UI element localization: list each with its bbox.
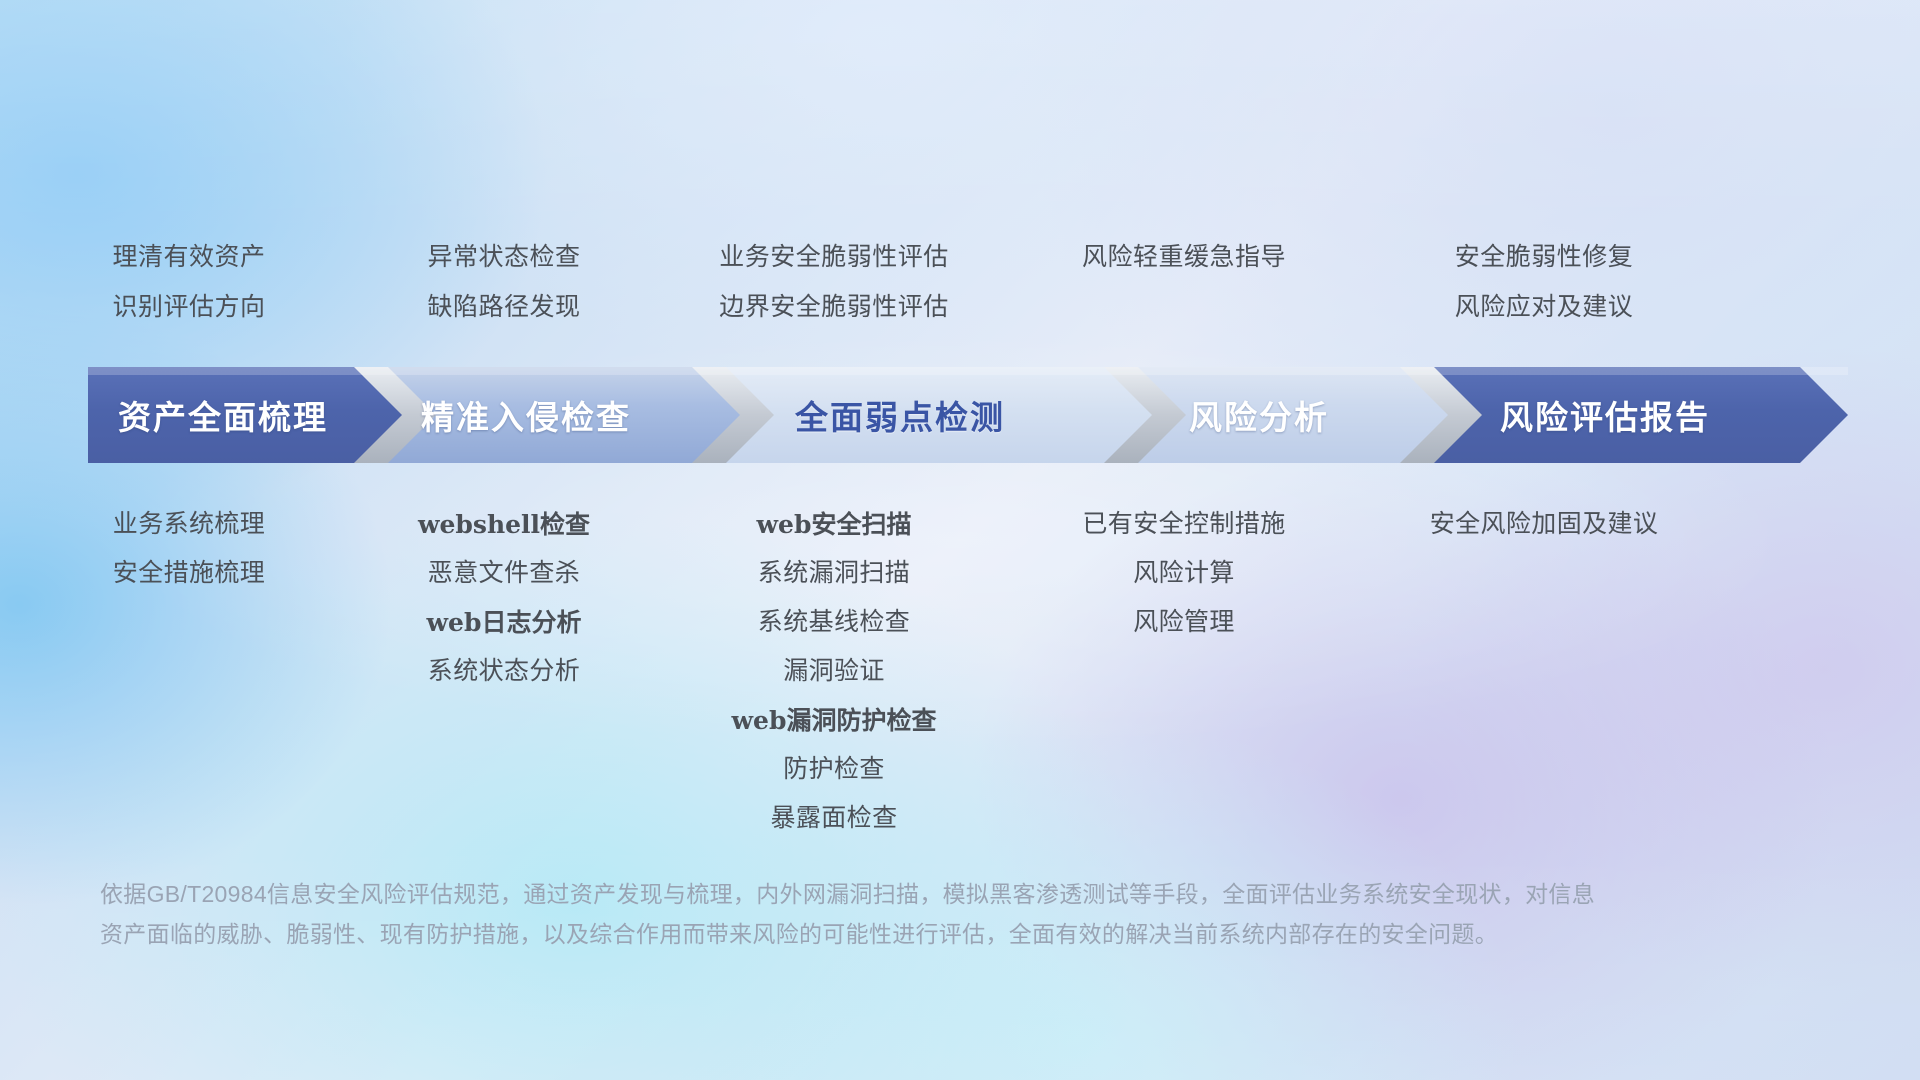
stage-title-text: 精准入侵检查 — [421, 391, 631, 439]
list-item: 业务系统梳理 — [24, 500, 354, 549]
list-item: 防护检查 — [654, 745, 1014, 794]
list-item: 系统漏洞扫描 — [654, 549, 1014, 598]
top-label-item: 业务安全脆弱性评估 — [654, 232, 1014, 282]
stage-title-text: 风险评估报告 — [1500, 391, 1710, 439]
list-item: 系统基线检查 — [654, 598, 1014, 647]
top-label-item: 风险应对及建议 — [1354, 282, 1734, 332]
list-item: webshell检查 — [354, 500, 654, 549]
stage-title-asset-inventory[interactable]: 资产全面梳理 — [88, 367, 358, 463]
stage-title-weakness-detection[interactable]: 全面弱点检测 — [730, 367, 1070, 463]
top-labels-weakness-detection: 业务安全脆弱性评估 边界安全脆弱性评估 — [654, 232, 1014, 352]
list-item: web安全扫描 — [654, 500, 1014, 549]
top-label-item: 异常状态检查 — [354, 232, 654, 282]
top-label-item: 缺陷路径发现 — [354, 282, 654, 332]
flow-diagram: 理清有效资产 识别评估方向 异常状态检查 缺陷路径发现 业务安全脆弱性评估 边界… — [0, 0, 1920, 1080]
top-labels-risk-analysis: 风险轻重缓急指导 — [1014, 232, 1354, 352]
top-label-item: 识别评估方向 — [24, 282, 354, 332]
list-item: 安全风险加固及建议 — [1354, 500, 1734, 549]
list-item: web日志分析 — [354, 598, 654, 647]
footer-line-1: 依据GB/T20984信息安全风险评估规范，通过资产发现与梳理，内外网漏洞扫描，… — [100, 874, 1800, 914]
bottom-list-weakness-detection: web安全扫描 系统漏洞扫描 系统基线检查 漏洞验证 web漏洞防护检查 防护检… — [654, 500, 1014, 843]
top-labels-risk-report: 安全脆弱性修复 风险应对及建议 — [1354, 232, 1734, 352]
list-item: 安全措施梳理 — [24, 549, 354, 598]
list-item: 恶意文件查杀 — [354, 549, 654, 598]
top-label-item: 安全脆弱性修复 — [1354, 232, 1734, 282]
bottom-lists-band: 业务系统梳理 安全措施梳理 webshell检查 恶意文件查杀 web日志分析 … — [0, 500, 1920, 843]
top-label-item: 理清有效资产 — [24, 232, 354, 282]
stage-title-text: 风险分析 — [1189, 391, 1329, 439]
top-labels-band: 理清有效资产 识别评估方向 异常状态检查 缺陷路径发现 业务安全脆弱性评估 边界… — [0, 232, 1920, 352]
footer-description: 依据GB/T20984信息安全风险评估规范，通过资产发现与梳理，内外网漏洞扫描，… — [100, 874, 1800, 954]
list-item: 漏洞验证 — [654, 647, 1014, 696]
bottom-list-intrusion-check: webshell检查 恶意文件查杀 web日志分析 系统状态分析 — [354, 500, 654, 843]
bottom-list-risk-report: 安全风险加固及建议 — [1354, 500, 1734, 843]
top-label-item: 风险轻重缓急指导 — [1014, 232, 1354, 282]
list-item: 风险管理 — [1014, 598, 1354, 647]
list-item: 风险计算 — [1014, 549, 1354, 598]
top-labels-asset-inventory: 理清有效资产 识别评估方向 — [24, 232, 354, 352]
bottom-list-risk-analysis: 已有安全控制措施 风险计算 风险管理 — [1014, 500, 1354, 843]
list-item: 已有安全控制措施 — [1014, 500, 1354, 549]
stage-title-text: 全面弱点检测 — [795, 391, 1005, 439]
top-labels-intrusion-check: 异常状态检查 缺陷路径发现 — [354, 232, 654, 352]
stage-title-risk-report[interactable]: 风险评估报告 — [1440, 367, 1770, 463]
top-label-item: 边界安全脆弱性评估 — [654, 282, 1014, 332]
list-item: web漏洞防护检查 — [654, 696, 1014, 745]
list-item: 暴露面检查 — [654, 794, 1014, 843]
stage-title-intrusion-check[interactable]: 精准入侵检查 — [392, 367, 660, 463]
stage-title-text: 资产全面梳理 — [118, 391, 328, 439]
stage-title-risk-analysis[interactable]: 风险分析 — [1144, 367, 1374, 463]
list-item: 系统状态分析 — [354, 647, 654, 696]
bottom-list-asset-inventory: 业务系统梳理 安全措施梳理 — [24, 500, 354, 843]
footer-line-2: 资产面临的威胁、脆弱性、现有防护措施，以及综合作用而带来风险的可能性进行评估，全… — [100, 914, 1800, 954]
